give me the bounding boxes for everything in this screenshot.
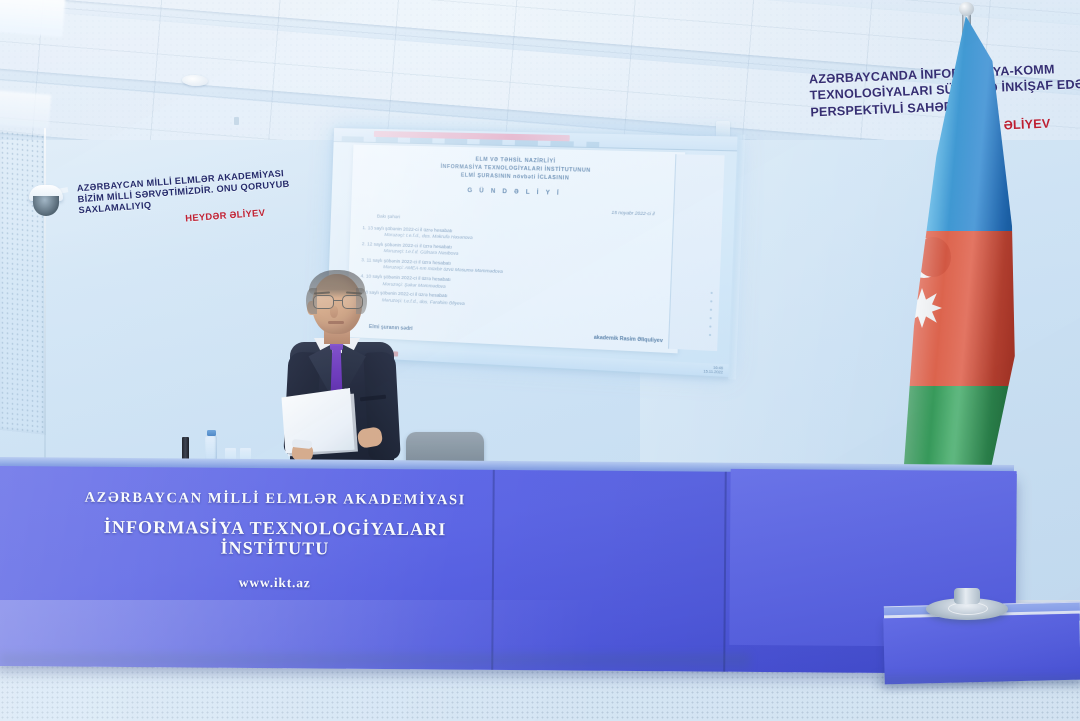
bridge [333,300,343,301]
ceiling-light-fixture [0,89,51,129]
clock-date: 15.11.2022 [703,369,723,374]
water-bottle [205,435,217,461]
wall-corner-edge [44,128,46,458]
ceiling-vent-icon [234,117,239,125]
power-socket-icon [716,121,730,137]
banner-line-1: AZƏRBAYCAN MİLLİ ELMLƏR AKADEMİYASI [60,491,490,510]
flag-finial-icon [959,2,974,16]
podium-banner: AZƏRBAYCAN MİLLİ ELMLƏR AKADEMİYASI İNFO… [60,491,491,593]
lens [342,295,363,309]
photo-scene: AZƏRBAYCAN MİLLİ ELMLƏR AKADEMİYASI BİZİ… [0,0,1080,721]
eyeglasses-icon [312,295,364,307]
ceiling-light-fixture [0,0,65,37]
floor-light-sheen [0,600,1080,721]
taskbar-clock: 16:46 15.11.2022 [703,365,723,375]
document-date: 15 noyabr 2022-ci il [611,210,654,217]
footer-name: akademik Rasim Əliquliyev [594,335,663,345]
banner-line-2: İNFORMASİYA TEXNOLOGİYALARI İNSTİTUTU [60,517,490,560]
mouth [328,321,344,324]
banner-website: www.ikt.az [60,573,490,592]
paper-sheet [278,388,357,458]
bottle-cap [207,430,216,436]
acoustic-panel [0,130,46,435]
speaker [262,268,422,473]
nose [330,306,338,318]
microphone-base [182,437,189,461]
app-sidebar [668,154,725,351]
